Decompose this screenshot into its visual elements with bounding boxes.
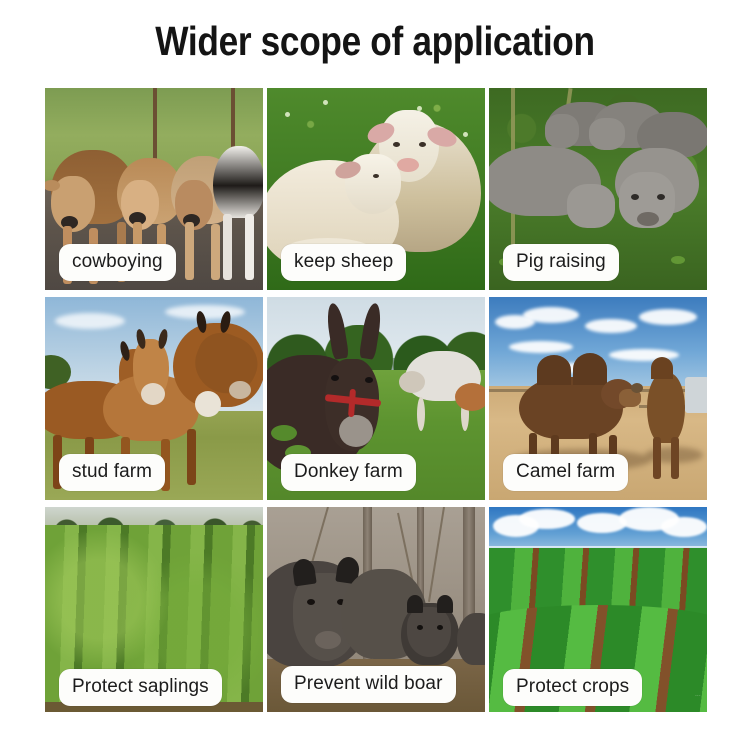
grid-cell-prevent-wild-boar[interactable]: Prevent wild boar [267, 507, 485, 712]
photo-donkey-farm: Donkey farm [267, 297, 485, 500]
grid-cell-protect-crops[interactable]: ... Protect crops [489, 507, 707, 712]
cell-label: Pig raising [503, 244, 619, 281]
grid-cell-protect-saplings[interactable]: Protect saplings [45, 507, 263, 712]
cell-label: cowboying [59, 244, 176, 281]
image-watermark: ... [695, 692, 701, 698]
cell-label: stud farm [59, 454, 165, 491]
grid-cell-camel-farm[interactable]: Camel farm [489, 297, 707, 500]
cell-label: Camel farm [503, 454, 628, 491]
photo-stud-farm: stud farm [45, 297, 263, 500]
grid-cell-cowboying[interactable]: cowboying [45, 88, 263, 290]
cell-label: Prevent wild boar [281, 666, 456, 703]
grid-cell-stud-farm[interactable]: stud farm [45, 297, 263, 500]
grid-cell-keep-sheep[interactable]: keep sheep [267, 88, 485, 290]
application-scope-poster: Wider scope of application [0, 0, 750, 750]
application-grid: cowboying [45, 88, 707, 716]
cell-label: keep sheep [281, 244, 406, 281]
photo-prevent-wild-boar: Prevent wild boar [267, 507, 485, 712]
cell-label: Donkey farm [281, 454, 416, 491]
photo-protect-crops: ... Protect crops [489, 507, 707, 712]
photo-pig-raising: Pig raising [489, 88, 707, 290]
page-title: Wider scope of application [53, 16, 698, 66]
photo-keep-sheep: keep sheep [267, 88, 485, 290]
photo-cowboying: cowboying [45, 88, 263, 290]
photo-protect-saplings: Protect saplings [45, 507, 263, 712]
photo-camel-farm: Camel farm [489, 297, 707, 500]
cell-label: Protect saplings [59, 669, 222, 706]
grid-cell-donkey-farm[interactable]: Donkey farm [267, 297, 485, 500]
cell-label: Protect crops [503, 669, 642, 706]
grid-cell-pig-raising[interactable]: Pig raising [489, 88, 707, 290]
